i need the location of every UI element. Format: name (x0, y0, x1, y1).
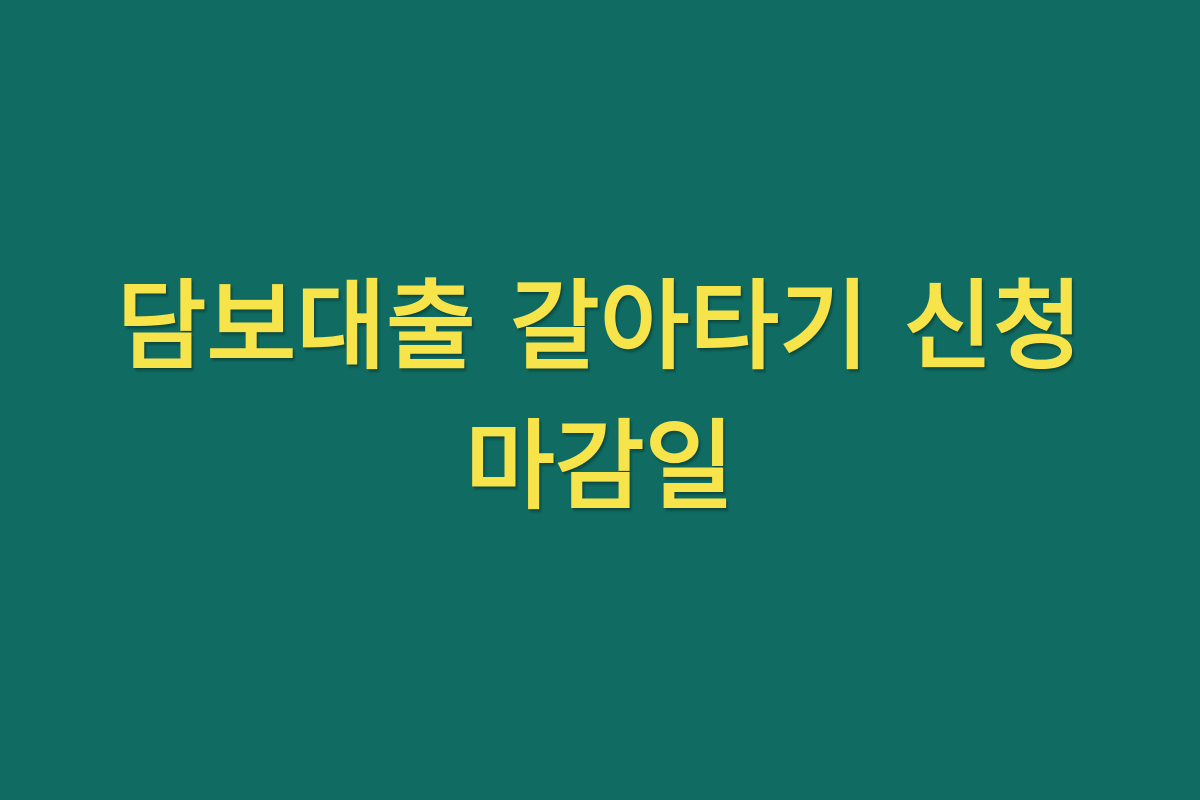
headline-line-1: 담보대출 갈아타기 신청 (60, 257, 1140, 397)
headline-block: 담보대출 갈아타기 신청 마감일 (60, 257, 1140, 537)
headline-line-2: 마감일 (60, 397, 1140, 537)
thumbnail-card: 담보대출 갈아타기 신청 마감일 (0, 0, 1200, 800)
